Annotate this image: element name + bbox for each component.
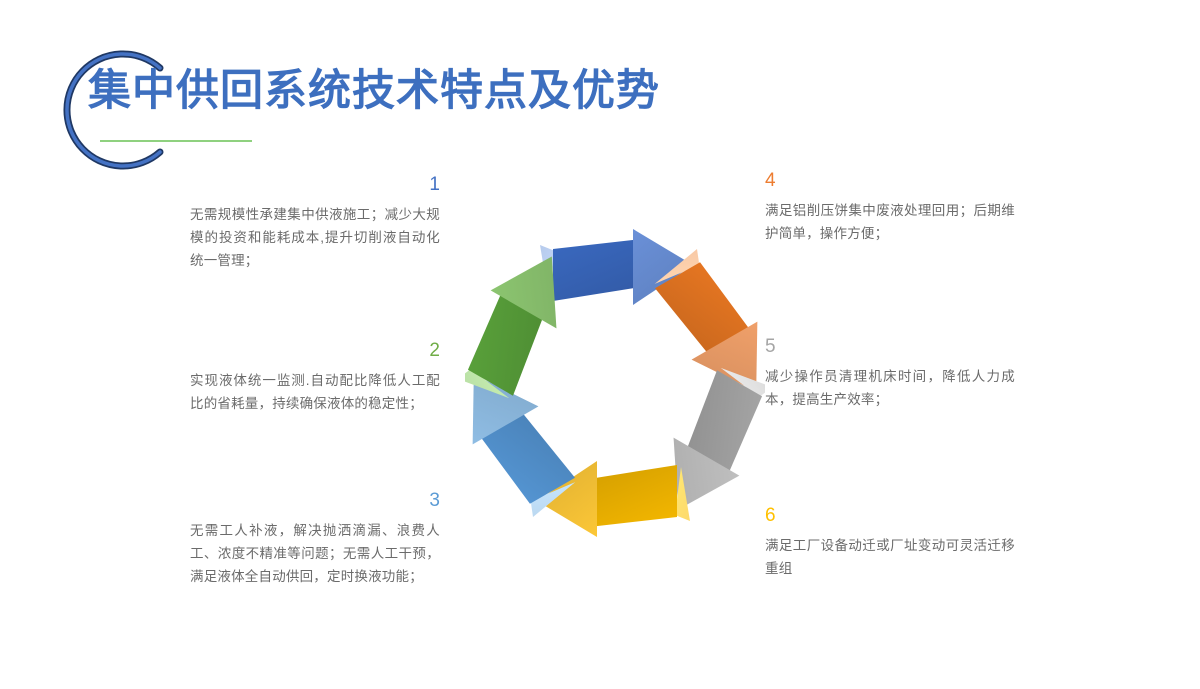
feature-block-3: 3 无需工人补液，解决抛洒滴漏、浪费人工、浓度不精准等问题；无需人工干预，满足液… [190, 490, 440, 588]
feature-text-6: 满足工厂设备动迁或厂址变动可灵活迁移重组 [765, 534, 1015, 580]
feature-text-5: 减少操作员清理机床时间，降低人力成本，提高生产效率； [765, 365, 1015, 411]
feature-block-2: 2 实现液体统一监测.自动配比降低人工配比的省耗量，持续确保液体的稳定性； [190, 340, 440, 415]
feature-text-3: 无需工人补液，解决抛洒滴漏、浪费人工、浓度不精准等问题；无需人工干预，满足液体全… [190, 519, 440, 588]
feature-number-4: 4 [765, 170, 1015, 192]
feature-number-5: 5 [765, 336, 1015, 358]
feature-block-4: 4 满足铝削压饼集中废液处理回用；后期维护简单，操作方便； [765, 170, 1015, 245]
feature-text-1: 无需规模性承建集中供液施工；减少大规模的投资和能耗成本,提升切削液自动化统一管理… [190, 203, 440, 272]
feature-block-6: 6 满足工厂设备动迁或厂址变动可灵活迁移重组 [765, 505, 1015, 580]
feature-block-1: 1 无需规模性承建集中供液施工；减少大规模的投资和能耗成本,提升切削液自动化统一… [190, 174, 440, 272]
slide-canvas: 集中供回系统技术特点及优势 1 无需规模性承建集中供液施工；减少大规模的投资和能… [0, 0, 1200, 689]
feature-text-4: 满足铝削压饼集中废液处理回用；后期维护简单，操作方便； [765, 199, 1015, 245]
page-title: 集中供回系统技术特点及优势 [88, 68, 660, 115]
feature-number-3: 3 [190, 490, 440, 512]
feature-number-2: 2 [190, 340, 440, 362]
feature-text-2: 实现液体统一监测.自动配比降低人工配比的省耗量，持续确保液体的稳定性； [190, 369, 440, 415]
feature-block-5: 5 减少操作员清理机床时间，降低人力成本，提高生产效率； [765, 336, 1015, 411]
cycle-arrow-wheel [465, 225, 765, 540]
feature-number-6: 6 [765, 505, 1015, 527]
title-underline [100, 140, 252, 142]
feature-number-1: 1 [190, 174, 440, 196]
